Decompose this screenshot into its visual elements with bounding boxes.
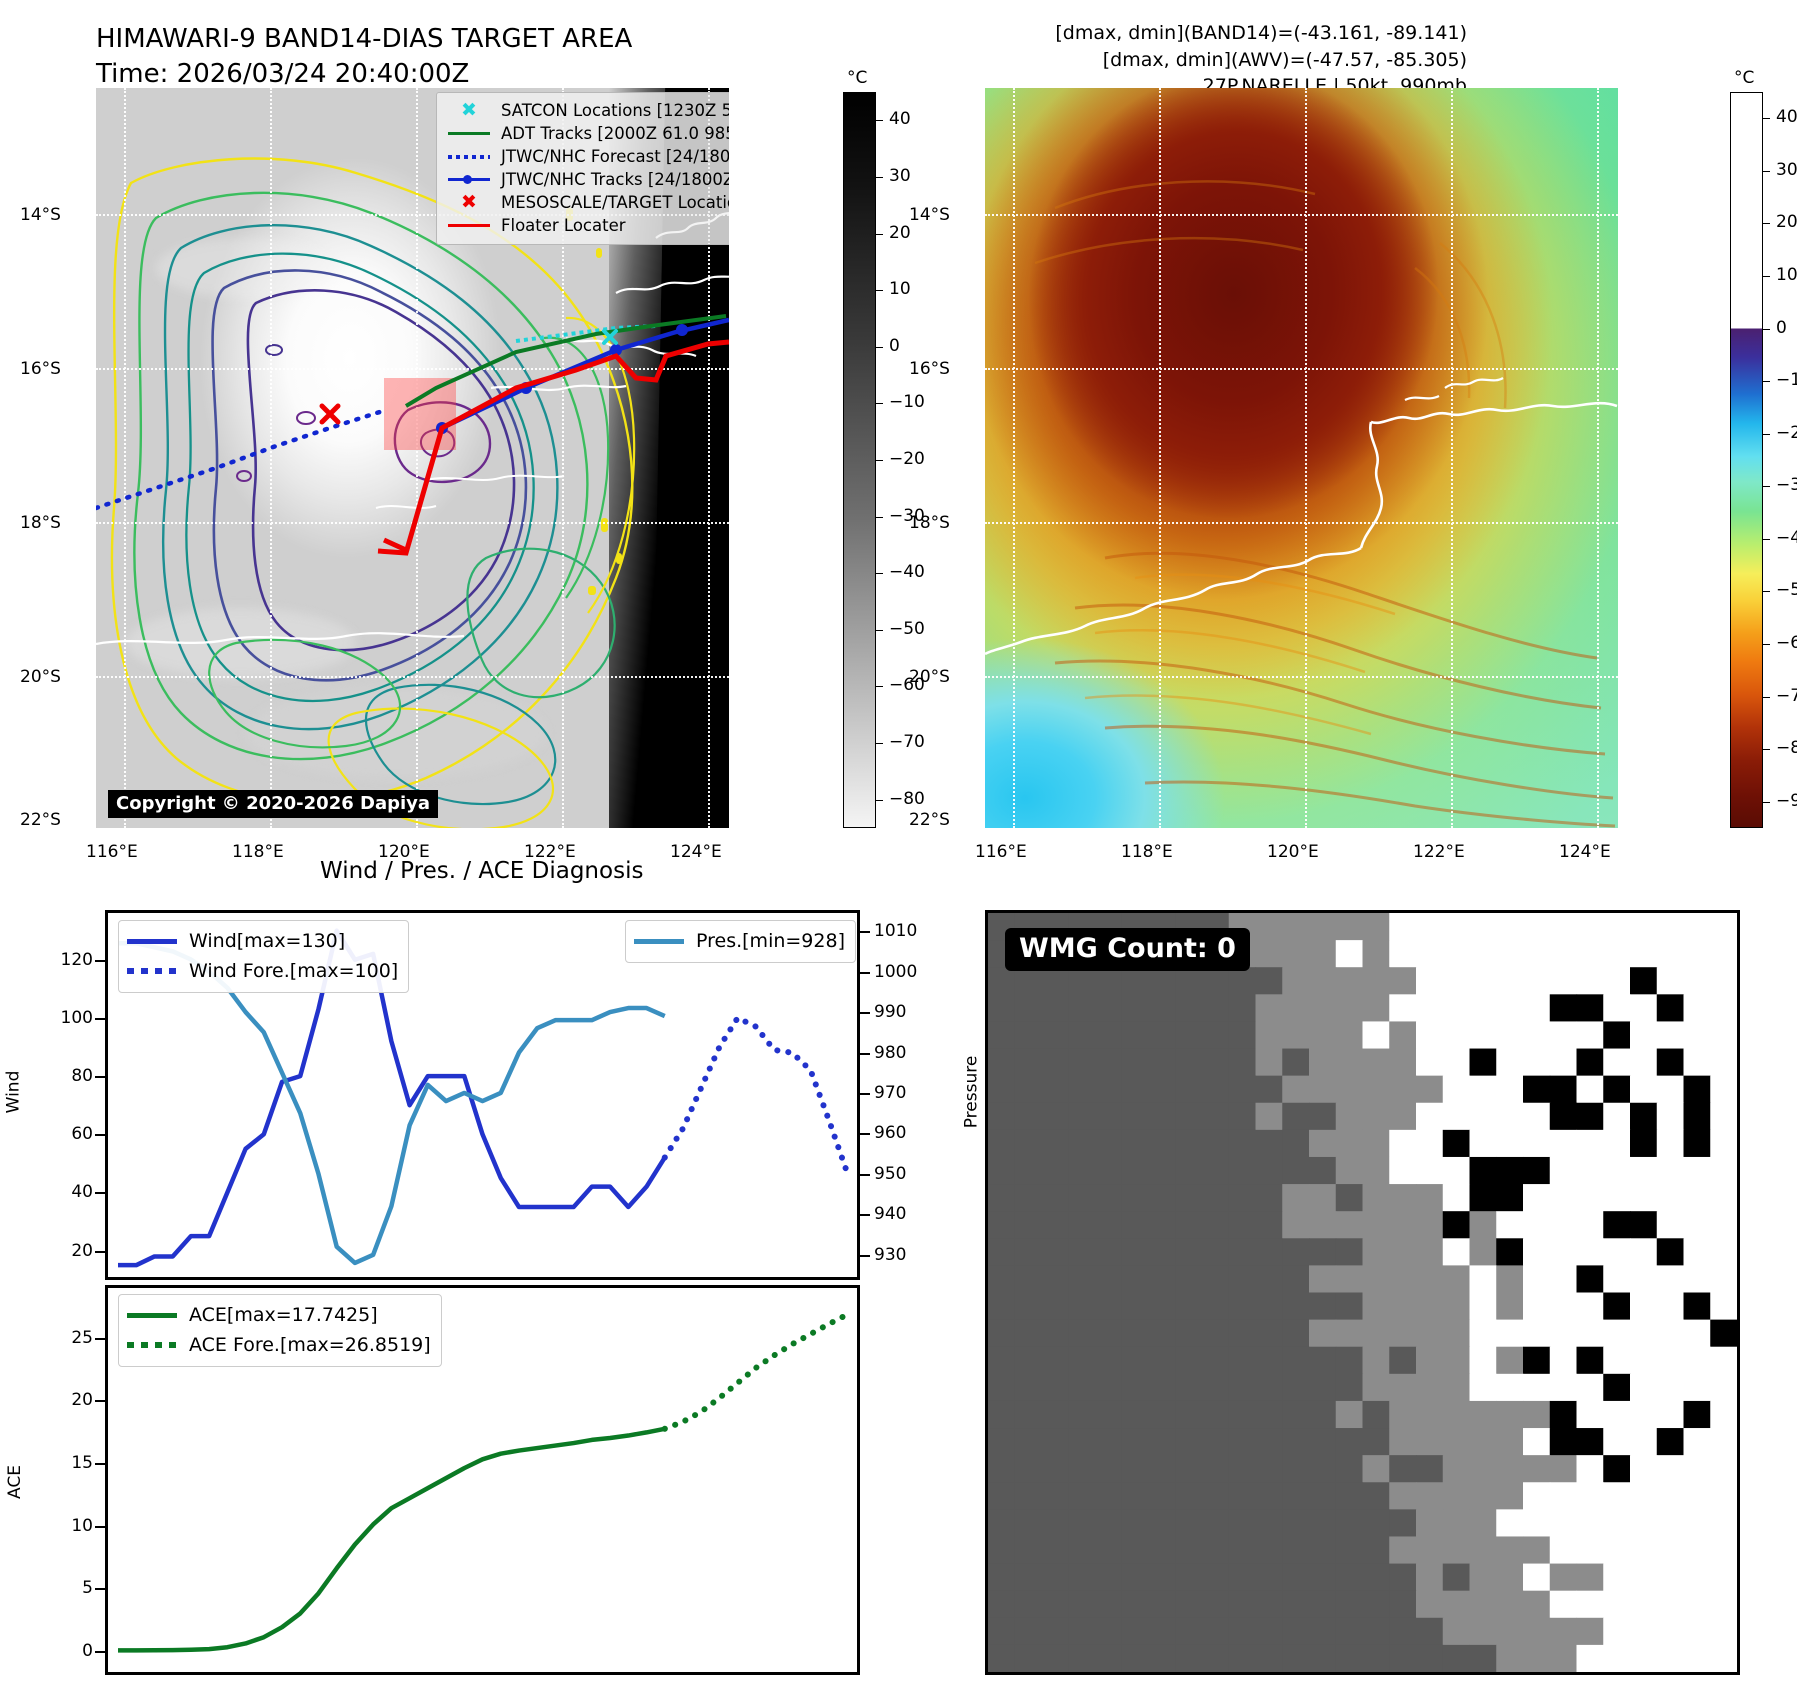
colorbar-ticklabel: 30 [889, 166, 911, 186]
pressure-axis-title: Pressure [961, 1056, 981, 1129]
awv-lon-tick: 118°E [1121, 842, 1173, 862]
awv-lon-tick: 116°E [975, 842, 1027, 862]
ace-tickmark [95, 1463, 105, 1465]
page-title-line1: HIMAWARI-9 BAND14-DIAS TARGET AREA [96, 24, 632, 54]
wind-ticklabel: 40 [35, 1182, 93, 1202]
ir-lat-tick: 22°S [20, 810, 61, 830]
awv-satellite-map[interactable] [985, 88, 1618, 828]
awv-lat-tick: 20°S [909, 667, 950, 687]
ir-colorbar [843, 92, 876, 828]
colorbar-ticklabel: 40 [1776, 107, 1797, 127]
ace-ticklabel: 15 [35, 1453, 93, 1473]
colorbar-tickmark [876, 120, 883, 121]
colorbar-tickmark [1763, 591, 1770, 592]
colorbar-tickmark [876, 347, 883, 348]
colorbar-tickmark [1763, 223, 1770, 224]
pressure-ticklabel: 1000 [874, 962, 917, 982]
legend-label: Wind Fore.[max=100] [189, 960, 398, 982]
awv-gridline-lon [1305, 88, 1307, 828]
pressure-tickmark [860, 1214, 870, 1216]
awv-lon-tick: 122°E [1413, 842, 1465, 862]
awv-lat-tick: 18°S [909, 513, 950, 533]
pressure-ticklabel: 1010 [874, 921, 917, 941]
colorbar-tickmark [1763, 276, 1770, 277]
awv-coastline [985, 88, 1618, 828]
awv-gridline-lon [1451, 88, 1453, 828]
colorbar-tickmark [876, 177, 883, 178]
colorbar-ticklabel: −20 [1776, 423, 1797, 443]
colorbar-ticklabel: −50 [1776, 580, 1797, 600]
legend-item[interactable]: ✖ MESOSCALE/TARGET Location [446, 191, 729, 214]
colorbar-tickmark [876, 403, 883, 404]
wind-tickmark [95, 960, 105, 962]
page-title: HIMAWARI-9 BAND14-DIAS TARGET AREATime: … [96, 22, 632, 92]
colorbar-ticklabel: −80 [1776, 738, 1797, 758]
colorbar-ticklabel: 30 [1776, 160, 1797, 180]
solid-line-icon [127, 939, 179, 944]
colorbar-tickmark [876, 800, 883, 801]
ir-map-legend[interactable]: ✖ SATCON Locations [1230Z 50 990] ADT Tr… [436, 92, 729, 245]
legend-label: Pres.[min=928] [696, 930, 845, 952]
header-awv-range: [dmax, dmin](AWV)=(-47.57, -85.305) [1103, 49, 1467, 71]
legend-item[interactable]: ACE Fore.[max=26.8519] [127, 1330, 431, 1360]
colorbar-ticklabel: −10 [889, 392, 925, 412]
awv-gridline-lat [985, 522, 1618, 524]
colorbar-tickmark [1763, 381, 1770, 382]
colorbar-tickmark [876, 234, 883, 235]
colorbar-tickmark [1763, 329, 1770, 330]
wind-legend[interactable]: Wind[max=130] Wind Fore.[max=100] [118, 920, 409, 993]
diagnosis-panel-title: Wind / Pres. / ACE Diagnosis [320, 858, 643, 884]
awv-gridline-lon [1159, 88, 1161, 828]
colorbar-ticklabel: −40 [1776, 528, 1797, 548]
legend-item[interactable]: JTWC/NHC Tracks [24/1800Z] [446, 168, 729, 191]
colorbar-tickmark [1763, 644, 1770, 645]
colorbar-tickmark [876, 630, 883, 631]
ace-ticklabel: 0 [35, 1641, 93, 1661]
awv-colorbar [1730, 92, 1763, 828]
wind-ticklabel: 120 [35, 950, 93, 970]
colorbar-tickmark [1763, 697, 1770, 698]
legend-label: JTWC/NHC Forecast [24/1800Z] [501, 147, 729, 166]
target-area-box [384, 378, 456, 450]
colorbar-tickmark [1763, 539, 1770, 540]
dotted-line-icon [127, 968, 179, 974]
awv-lon-tick: 120°E [1267, 842, 1319, 862]
awv-lat-tick: 22°S [909, 810, 950, 830]
awv-gridline-lat [985, 214, 1618, 216]
ace-ticklabel: 5 [35, 1578, 93, 1598]
colorbar-ticklabel: −10 [1776, 370, 1797, 390]
line-with-dot-icon [446, 178, 492, 181]
wind-axis-title: Wind [3, 1071, 23, 1114]
ir-lon-tick: 124°E [670, 842, 722, 862]
colorbar-ticklabel: 10 [1776, 265, 1797, 285]
legend-label: MESOSCALE/TARGET Location [501, 193, 729, 212]
ace-tickmark [95, 1526, 105, 1528]
legend-item[interactable]: ✖ SATCON Locations [1230Z 50 990] [446, 99, 729, 122]
pressure-tickmark [860, 1255, 870, 1257]
page-title-line2: Time: 2026/03/24 20:40:00Z [96, 59, 469, 89]
ir-lat-tick: 18°S [20, 513, 61, 533]
ir-satellite-map[interactable]: ✖ SATCON Locations [1230Z 50 990] ADT Tr… [96, 88, 729, 828]
colorbar-tickmark [1763, 171, 1770, 172]
colorbar-ticklabel: 40 [889, 109, 911, 129]
ir-lat-tick: 14°S [20, 205, 61, 225]
pressure-legend[interactable]: Pres.[min=928] [625, 920, 856, 963]
wmg-count-badge: WMG Count: 0 [1005, 928, 1250, 971]
legend-label: Wind[max=130] [189, 930, 345, 952]
legend-item[interactable]: ADT Tracks [2000Z 61.0 985.8] [446, 122, 729, 145]
legend-label: SATCON Locations [1230Z 50 990] [501, 101, 729, 120]
pressure-ticklabel: 990 [874, 1002, 906, 1022]
wind-tickmark [95, 1076, 105, 1078]
colorbar-ticklabel: 20 [889, 223, 911, 243]
ir-lon-tick: 116°E [86, 842, 138, 862]
awv-gridline-lon [1597, 88, 1599, 828]
colorbar-tickmark [1763, 749, 1770, 750]
pressure-ticklabel: 980 [874, 1043, 906, 1063]
colorbar-tickmark [876, 686, 883, 687]
awv-gridline-lon [1013, 88, 1015, 828]
legend-label: ACE Fore.[max=26.8519] [189, 1334, 431, 1356]
colorbar-tickmark [1763, 486, 1770, 487]
colorbar-tickmark [876, 290, 883, 291]
wmg-panel[interactable]: WMG Count: 0 [985, 910, 1740, 1675]
awv-colorbar-unit: °C [1734, 68, 1754, 88]
colorbar-ticklabel: −60 [1776, 633, 1797, 653]
awv-lon-tick: 124°E [1559, 842, 1611, 862]
solid-line-icon [446, 224, 492, 227]
header-band14-range: [dmax, dmin](BAND14)=(-43.161, -89.141) [1055, 22, 1467, 44]
legend-item[interactable]: JTWC/NHC Forecast [24/1800Z] [446, 145, 729, 168]
colorbar-tickmark [876, 517, 883, 518]
solid-line-icon [634, 939, 686, 944]
ace-tickmark [95, 1338, 105, 1340]
colorbar-tickmark [876, 460, 883, 461]
colorbar-tickmark [876, 573, 883, 574]
legend-label: ADT Tracks [2000Z 61.0 985.8] [501, 124, 729, 143]
legend-item[interactable]: Floater Locater [446, 214, 729, 237]
mesoscale-target-marker [322, 406, 338, 422]
colorbar-ticklabel: −90 [1776, 791, 1797, 811]
colorbar-ticklabel: −20 [889, 449, 925, 469]
ace-ticklabel: 25 [35, 1328, 93, 1348]
x-mark-icon: ✖ [446, 101, 492, 120]
pressure-tickmark [860, 1174, 870, 1176]
awv-gridline-lat [985, 676, 1618, 678]
legend-item[interactable]: Wind Fore.[max=100] [127, 956, 398, 986]
pressure-ticklabel: 970 [874, 1083, 906, 1103]
legend-label: JTWC/NHC Tracks [24/1800Z] [501, 170, 729, 189]
colorbar-ticklabel: −30 [1776, 475, 1797, 495]
ir-colorbar-unit: °C [847, 68, 867, 88]
pressure-tickmark [860, 1012, 870, 1014]
copyright-notice: Copyright © 2020-2026 Dapiya [108, 790, 438, 818]
pressure-tickmark [860, 972, 870, 974]
pressure-tickmark [860, 1093, 870, 1095]
dotted-line-icon [446, 155, 492, 159]
legend-label: ACE[max=17.7425] [189, 1304, 378, 1326]
pressure-ticklabel: 930 [874, 1245, 906, 1265]
x-mark-icon: ✖ [446, 193, 492, 212]
wind-tickmark [95, 1018, 105, 1020]
wind-ticklabel: 80 [35, 1066, 93, 1086]
wind-tickmark [95, 1134, 105, 1136]
legend-item[interactable]: Wind[max=130] [127, 926, 398, 956]
wind-tickmark [95, 1192, 105, 1194]
colorbar-ticklabel: −50 [889, 619, 925, 639]
solid-line-icon [127, 1313, 179, 1318]
legend-item[interactable]: Pres.[min=928] [634, 926, 845, 956]
wind-ticklabel: 100 [35, 1008, 93, 1028]
pressure-tickmark [860, 1053, 870, 1055]
ir-lat-tick: 16°S [20, 359, 61, 379]
ace-tickmark [95, 1588, 105, 1590]
colorbar-ticklabel: 20 [1776, 212, 1797, 232]
legend-label: Floater Locater [501, 216, 626, 235]
wind-ticklabel: 60 [35, 1124, 93, 1144]
ir-lon-tick: 118°E [232, 842, 284, 862]
colorbar-ticklabel: −40 [889, 562, 925, 582]
legend-item[interactable]: ACE[max=17.7425] [127, 1300, 431, 1330]
ace-tickmark [95, 1651, 105, 1653]
ace-ticklabel: 20 [35, 1390, 93, 1410]
wind-ticklabel: 20 [35, 1241, 93, 1261]
wmg-grid [988, 913, 1737, 1672]
dotted-line-icon [127, 1342, 179, 1348]
ace-tickmark [95, 1400, 105, 1402]
dashboard-root: HIMAWARI-9 BAND14-DIAS TARGET AREATime: … [0, 0, 1797, 1690]
awv-lat-tick: 14°S [909, 205, 950, 225]
pressure-ticklabel: 960 [874, 1123, 906, 1143]
colorbar-tickmark [876, 743, 883, 744]
pressure-ticklabel: 940 [874, 1204, 906, 1224]
colorbar-tickmark [1763, 434, 1770, 435]
ace-axis-title: ACE [5, 1465, 25, 1499]
colorbar-tickmark [1763, 802, 1770, 803]
awv-gridline-lat [985, 368, 1618, 370]
colorbar-ticklabel: −80 [889, 789, 925, 809]
solid-line-icon [446, 132, 492, 135]
colorbar-ticklabel: 0 [1776, 318, 1787, 338]
wind-tickmark [95, 1251, 105, 1253]
pressure-ticklabel: 950 [874, 1164, 906, 1184]
colorbar-tickmark [1763, 118, 1770, 119]
colorbar-ticklabel: 10 [889, 279, 911, 299]
ir-lat-tick: 20°S [20, 667, 61, 687]
pressure-tickmark [860, 931, 870, 933]
pressure-tickmark [860, 1133, 870, 1135]
colorbar-ticklabel: −70 [1776, 686, 1797, 706]
colorbar-ticklabel: −70 [889, 732, 925, 752]
awv-lat-tick: 16°S [909, 359, 950, 379]
ace-ticklabel: 10 [35, 1516, 93, 1536]
colorbar-ticklabel: 0 [889, 336, 900, 356]
ace-legend[interactable]: ACE[max=17.7425] ACE Fore.[max=26.8519] [118, 1294, 442, 1367]
